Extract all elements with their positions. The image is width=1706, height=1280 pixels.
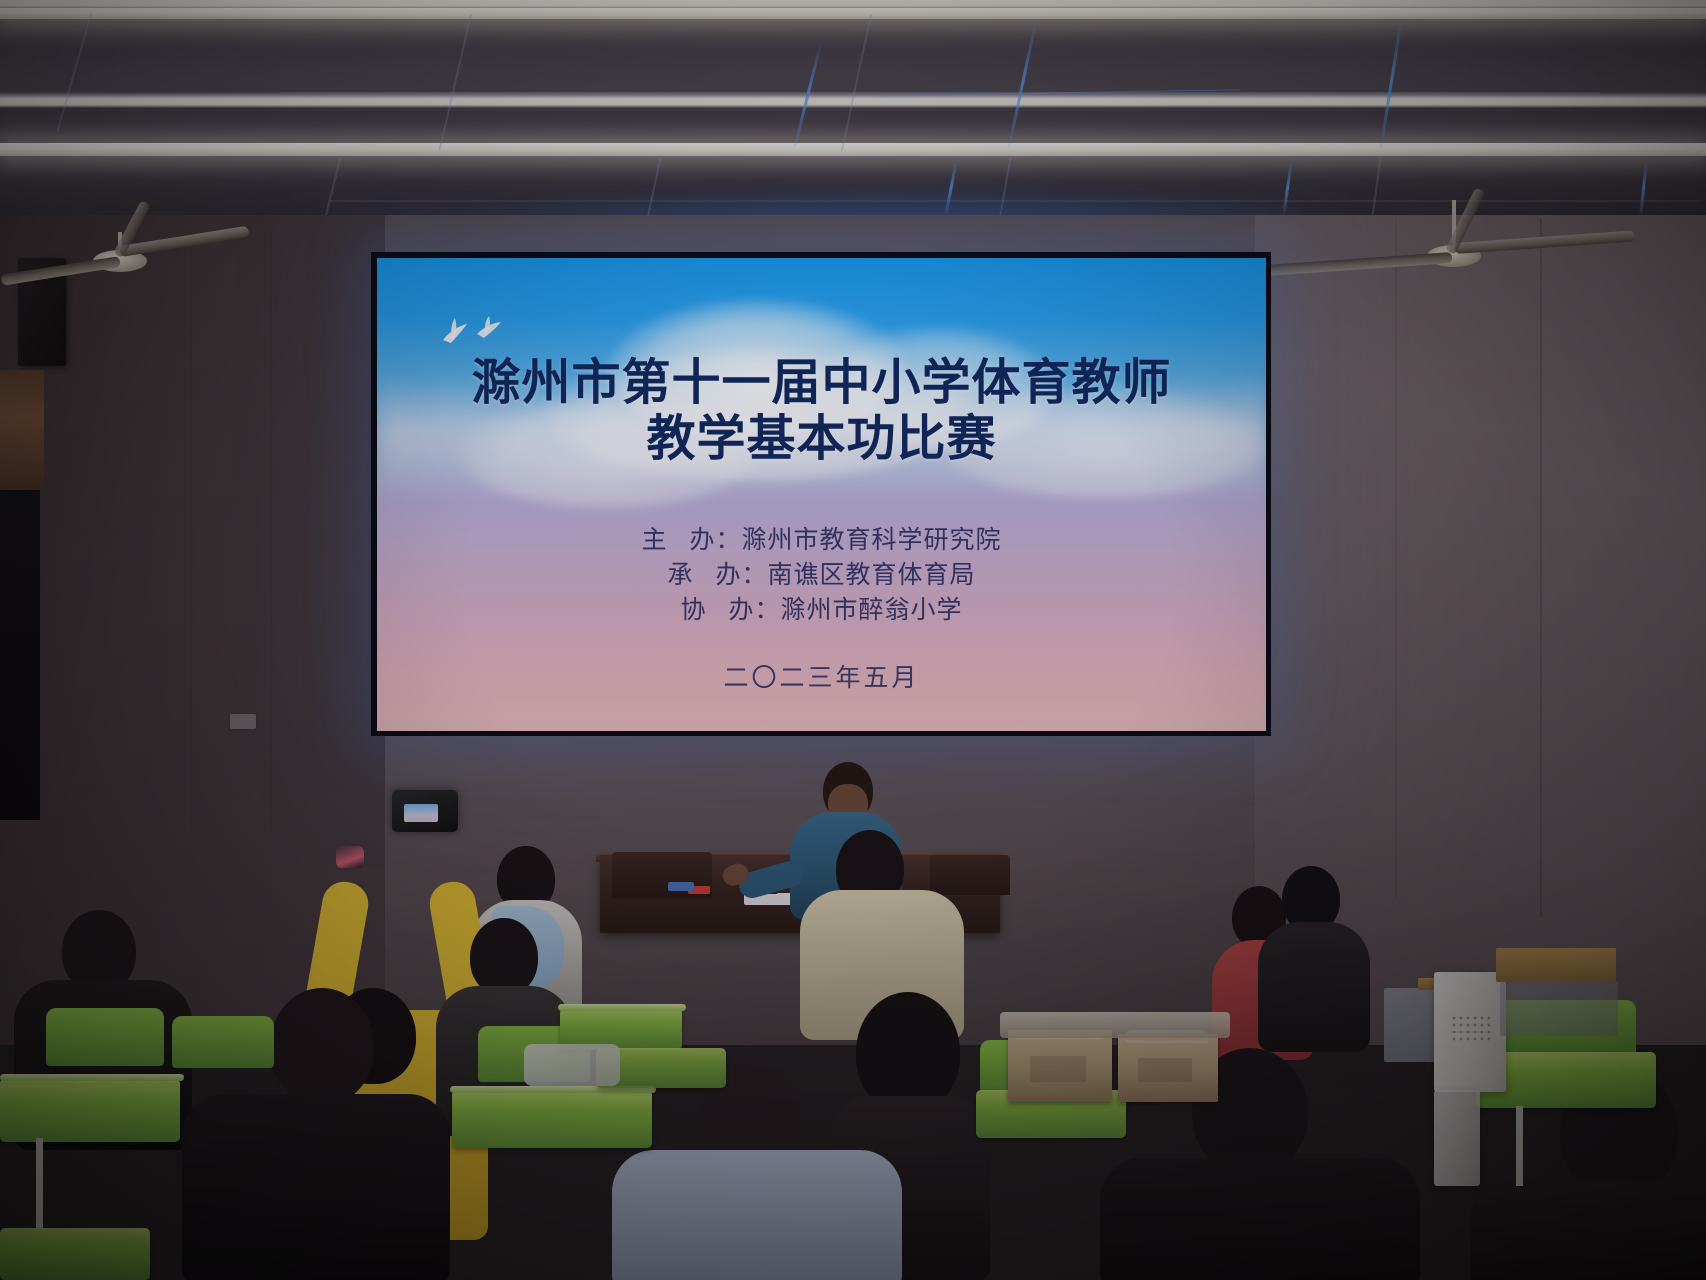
floor-carton-right <box>1118 1034 1218 1102</box>
slide-date: 二〇二三年五月 <box>377 658 1266 694</box>
desk-leg <box>1516 1106 1523 1186</box>
phone-screen <box>404 804 438 822</box>
organizer-row: 承 办：南谯区教育体育局 <box>377 557 1266 592</box>
ceiling-light-strip-mid <box>0 143 1706 156</box>
podium-chair[interactable] <box>930 855 1010 895</box>
wall-seam <box>270 230 272 830</box>
white-doves-icon <box>437 310 517 356</box>
organizer-label: 承 办 <box>667 557 741 592</box>
floor-carton-left <box>1008 1030 1112 1102</box>
organizer-value: 滁州市醉翁小学 <box>781 595 963 624</box>
cabinet-side-panel <box>1384 988 1438 1062</box>
wall-seam <box>1540 218 1542 918</box>
student-desk[interactable] <box>452 1090 652 1148</box>
organizer-separator: ： <box>741 560 767 589</box>
slide-organizers: 主 办：滁州市教育科学研究院 承 办：南谯区教育体育局 协 办：滁州市醉翁小学 <box>377 522 1266 627</box>
counter-panel <box>1500 982 1618 1036</box>
marker-on-table <box>668 882 694 891</box>
organizer-value: 南谯区教育体育局 <box>768 560 976 589</box>
ceiling-light-strip-top <box>0 8 1706 19</box>
dark-doorway <box>0 490 40 820</box>
wall-outlet[interactable] <box>230 714 256 729</box>
slide-title-line-1: 滁州市第十一届中小学体育教师 <box>377 354 1266 412</box>
organizer-label: 协 办 <box>680 592 754 627</box>
wood-wall-panel <box>0 370 44 490</box>
wall-seam <box>1395 218 1397 898</box>
organizer-label: 主 办 <box>641 522 715 557</box>
student-desk[interactable] <box>0 1228 150 1280</box>
organizer-row: 主 办：滁州市教育科学研究院 <box>377 522 1266 557</box>
organizer-separator: ： <box>754 595 780 624</box>
desk-leg <box>36 1138 43 1228</box>
room-photo-scene: 滁州市第十一届中小学体育教师 教学基本功比赛 主 办：滁州市教育科学研究院 承 … <box>0 0 1706 1280</box>
student-desk-edge <box>558 1004 686 1011</box>
student-desk-edge <box>0 1074 184 1081</box>
student-desk[interactable] <box>0 1078 180 1142</box>
organizer-row: 协 办：滁州市醉翁小学 <box>377 592 1266 627</box>
wall-seam <box>190 230 192 830</box>
cabinet-pedestal <box>1434 1090 1480 1186</box>
carton-lid <box>1000 1012 1230 1038</box>
wood-counter <box>1496 948 1616 982</box>
projection-screen: 滁州市第十一届中小学体育教师 教学基本功比赛 主 办：滁州市教育科学研究院 承 … <box>371 252 1271 736</box>
student-chair[interactable] <box>172 1016 274 1068</box>
organizer-value: 滁州市教育科学研究院 <box>742 525 1002 554</box>
slide-title-line-2: 教学基本功比赛 <box>377 410 1266 468</box>
cabinet-vent-icon <box>1452 1016 1490 1042</box>
organizer-separator: ： <box>715 525 741 554</box>
cloth-on-desk <box>524 1044 620 1086</box>
student-chair[interactable] <box>46 1008 164 1066</box>
projected-slide: 滁州市第十一届中小学体育教师 教学基本功比赛 主 办：滁州市教育科学研究院 承 … <box>377 258 1266 731</box>
wrist-watch <box>336 846 364 868</box>
equipment-cabinet-right[interactable] <box>1434 972 1506 1092</box>
